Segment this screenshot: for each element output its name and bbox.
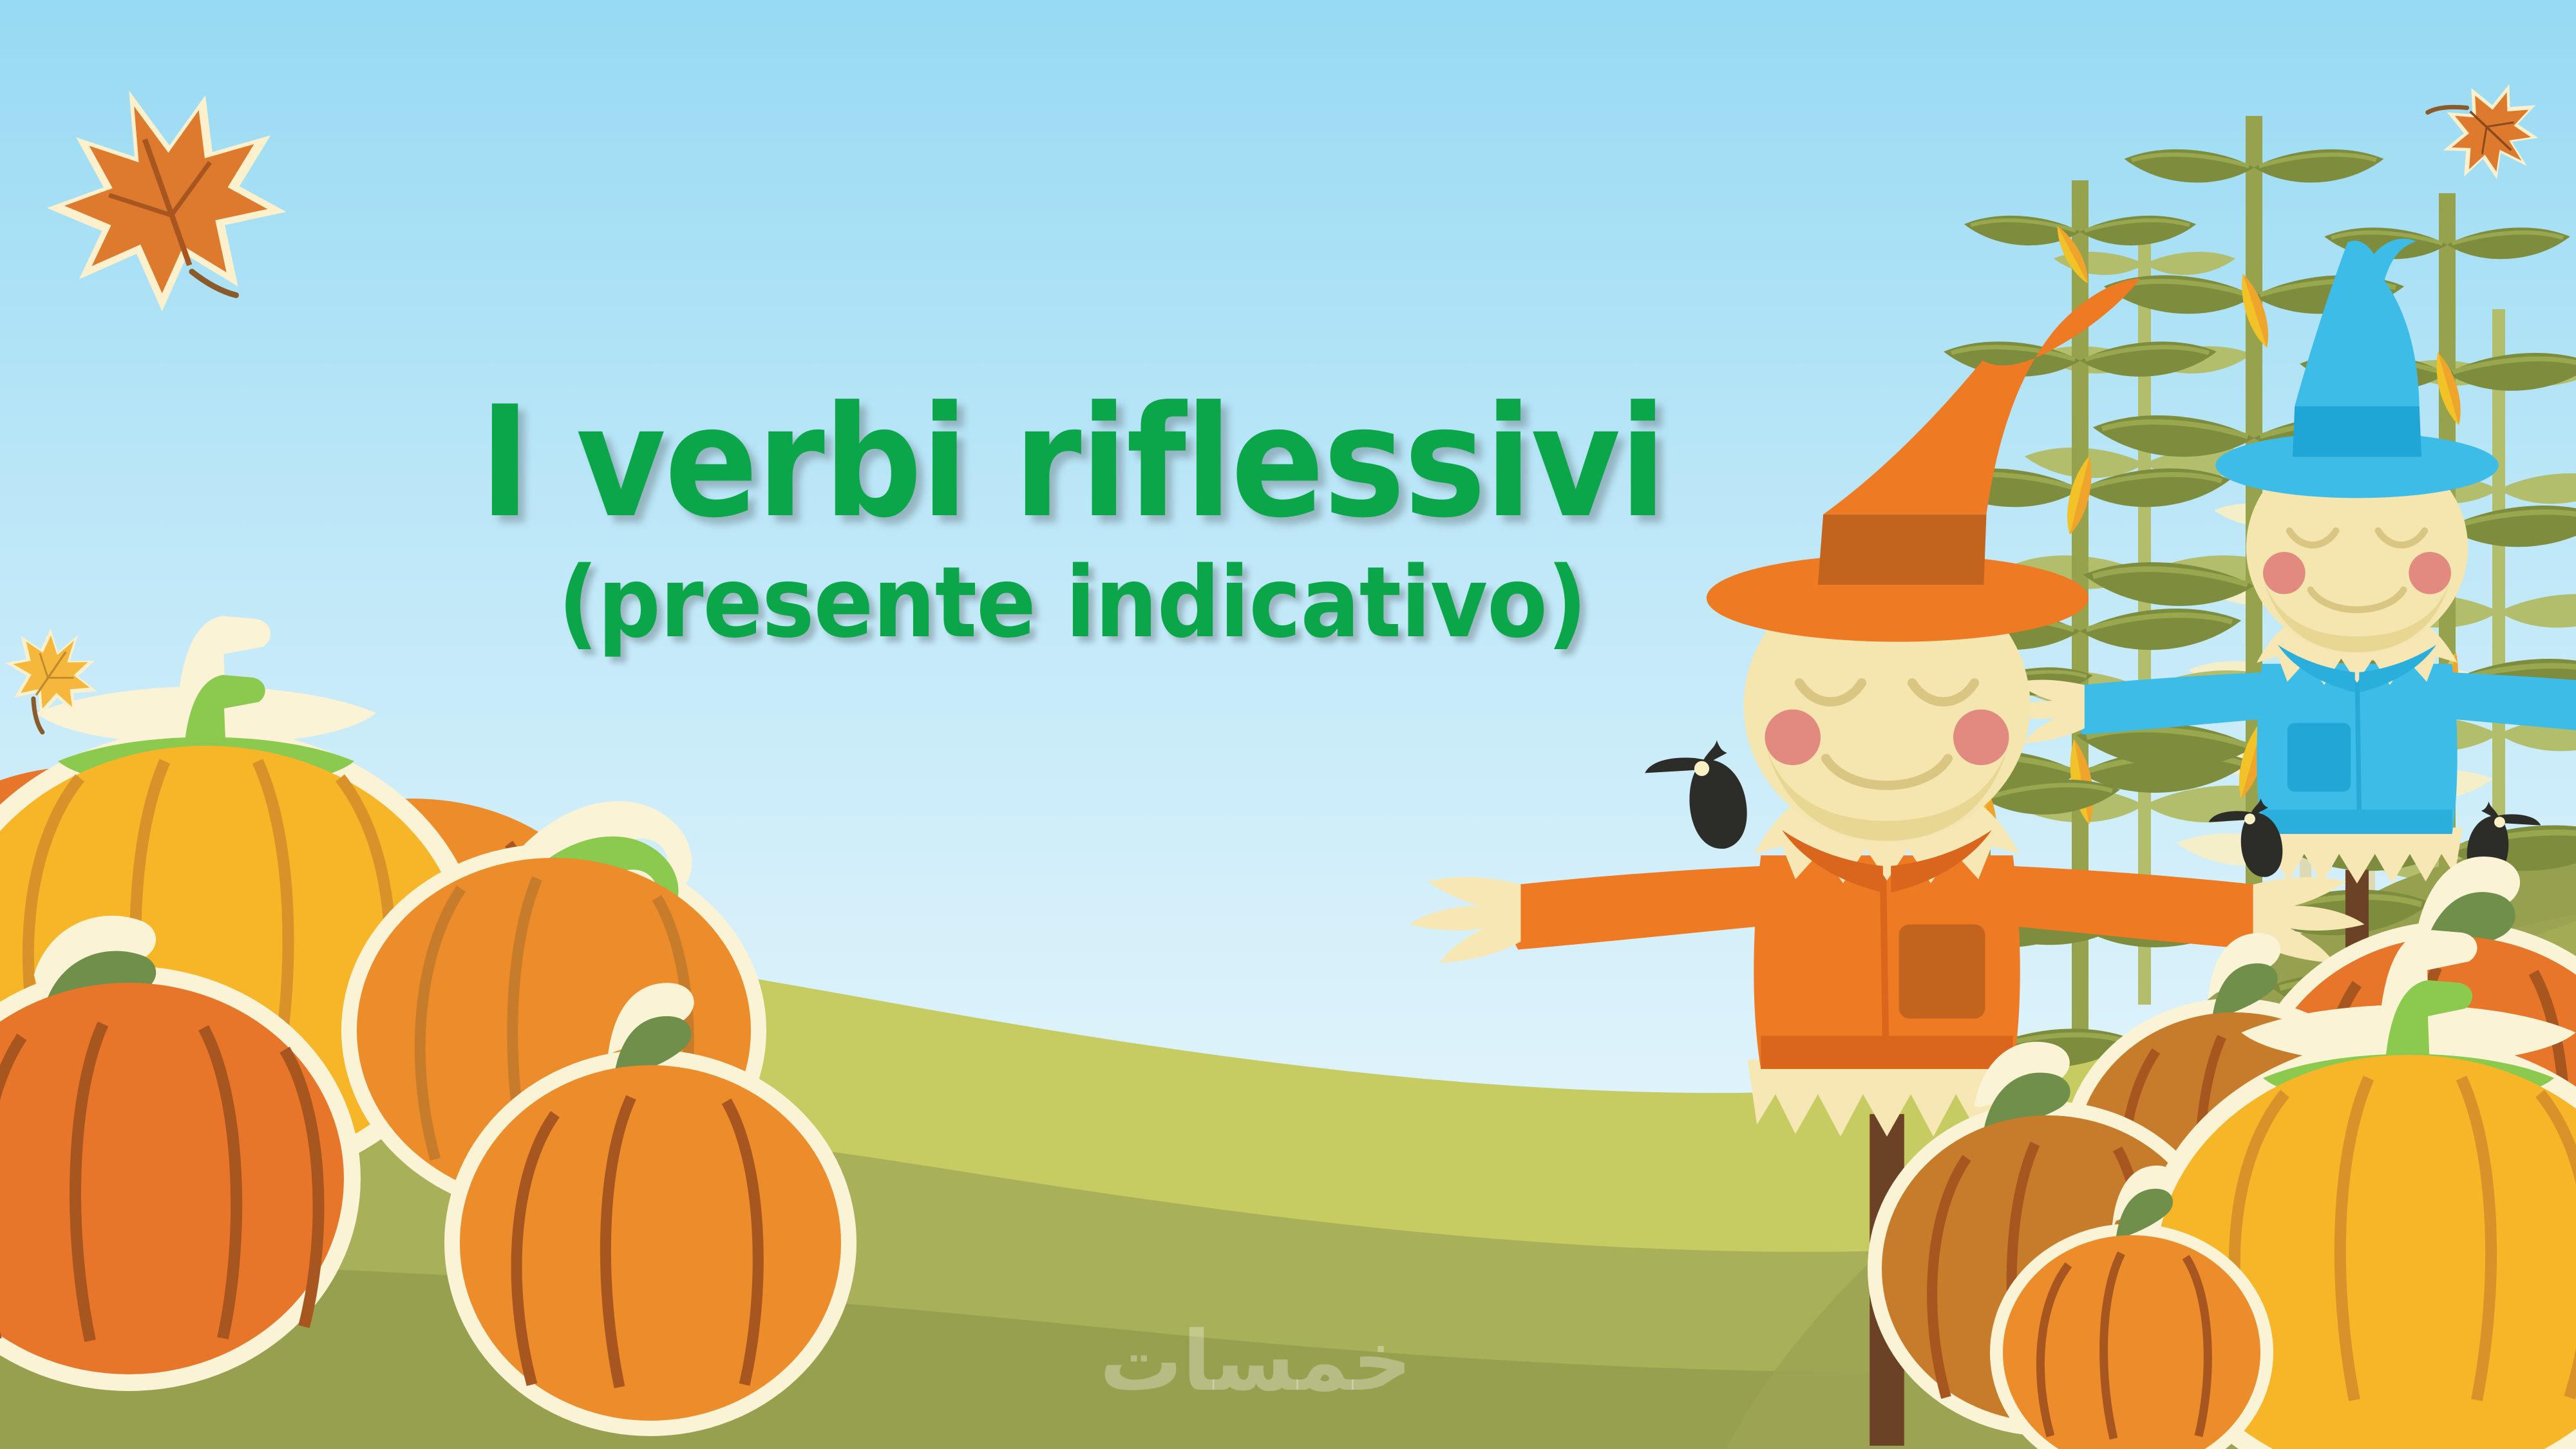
autumn-scene-illustration [0, 0, 2576, 1449]
slide-canvas: I verbi riflessivi (presente indicativo)… [0, 0, 2576, 1449]
